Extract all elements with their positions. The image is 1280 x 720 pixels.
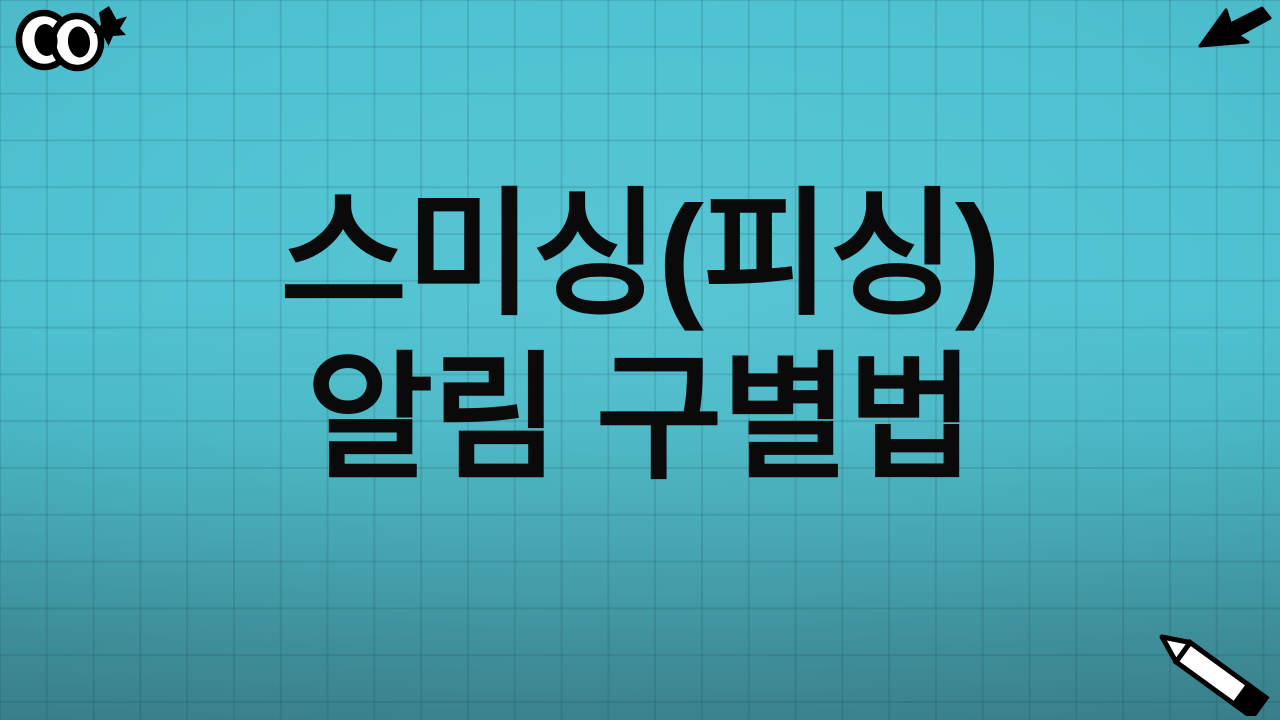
- eyes-logo: [8, 2, 128, 72]
- title-line-2: 알림 구별법: [0, 350, 1280, 488]
- title-block: 스미싱(피싱) 알림 구별법: [0, 186, 1280, 488]
- eyes-icon: [16, 11, 103, 71]
- pencil-icon: [1144, 630, 1276, 716]
- arrow-cursor-icon: [1196, 2, 1274, 58]
- thumbnail-canvas: 스미싱(피싱) 알림 구별법 스미싱(피싱) 알림 구별법: [0, 0, 1280, 720]
- title-line-1: 스미싱(피싱): [0, 186, 1280, 324]
